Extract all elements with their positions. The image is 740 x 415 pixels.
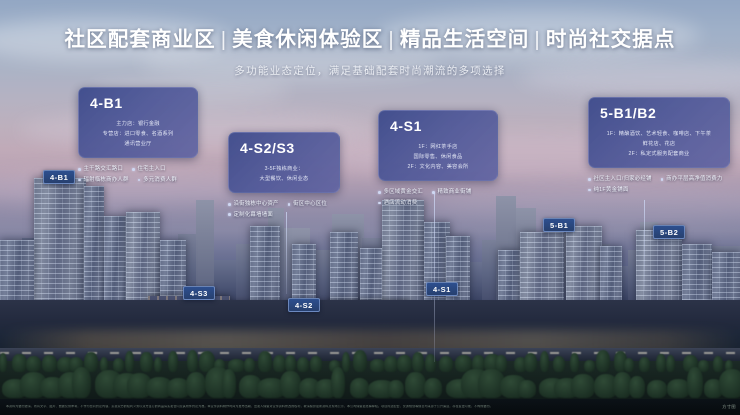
tree	[647, 380, 667, 398]
callout-bullet-item: 辐射临栋商办人群	[78, 175, 129, 185]
callout-card[interactable]: 4-B1主力店：银行金融专营店：进口零食、名酒系列通讯营业厅	[78, 87, 198, 158]
footer-bar: 本资料为要约邀请，所有文字、图片、数据仅供参考，不作为合同约定内容，买卖双方的权…	[0, 399, 740, 415]
callout-body-line: 2F：私定式服务配套商业	[600, 149, 718, 159]
callout-5-b1-b2[interactable]: 5-B1/B21F：精酿酒饮、艺术轻食、咖啡店、下午茶鲜花店、花店2F：私定式服…	[588, 97, 732, 195]
bullet-dot-icon	[228, 203, 231, 206]
callout-body-line: 专营店：进口零食、名酒系列	[90, 129, 186, 139]
tree	[687, 367, 702, 398]
callout-bullet-item: 沿街独栋中心资产	[228, 199, 279, 209]
callout-body-line: 1F：网红茶手店	[390, 142, 486, 152]
tree	[629, 376, 644, 398]
bullet-dot-icon	[78, 179, 81, 182]
callout-bullet-item: 商办平层高净值消费力	[661, 174, 723, 184]
callout-bullet-label: 住宅主入口	[138, 164, 166, 174]
building-tag-4-b1[interactable]: 4-B1	[43, 170, 75, 184]
callout-bullet-label: 酒店流动消费	[384, 198, 418, 208]
callout-body-line: 3-5F独栋商业：	[240, 164, 328, 174]
title-separator-1: |	[216, 28, 232, 51]
callout-bullets: 主干路交汇路口住宅主入口辐射临栋商办人群多元消费人群	[78, 164, 206, 185]
callout-title: 4-B1	[79, 88, 197, 116]
callout-body-line: 1F：精酿酒饮、艺术轻食、咖啡店、下午茶	[600, 129, 718, 139]
bullet-dot-icon	[132, 168, 135, 171]
callout-body-line: 通讯营业厅	[90, 139, 186, 149]
bullet-dot-icon	[288, 203, 291, 206]
callout-bullet-item: 街区中心区位	[288, 199, 327, 209]
title-part-2: 美食休闲体验区	[232, 28, 383, 51]
callout-body: 主力店：银行金融专营店：进口零食、名酒系列通讯营业厅	[79, 116, 197, 157]
callout-body: 3-5F独栋商业：大型餐饮、休闲业态	[229, 161, 339, 192]
callout-card[interactable]: 4-S2/S33-5F独栋商业：大型餐饮、休闲业态	[228, 132, 340, 193]
callout-bullet-item: 纯1F黄金铺面	[588, 185, 629, 195]
callout-bullet-label: 精致商业街铺	[438, 187, 472, 197]
callout-body-line: 鲜花店、花店	[600, 139, 718, 149]
callout-body-line: 主力店：银行金融	[90, 119, 186, 129]
callout-bullet-item: 主干路交汇路口	[78, 164, 123, 174]
callout-body-line: 2F：文化内容、美容会所	[390, 162, 486, 172]
tree	[424, 378, 442, 398]
title-separator-2: |	[383, 28, 399, 51]
callout-bullet-label: 定制化幕墙墙面	[234, 210, 274, 220]
callout-bullet-label: 多区域黄金交汇	[384, 187, 424, 197]
bullet-dot-icon	[378, 191, 381, 194]
callout-bullet-item: 定制化幕墙墙面	[228, 210, 273, 220]
callout-leader-line	[434, 192, 435, 362]
callout-bullet-label: 多元消费人群	[143, 175, 177, 185]
tree	[222, 369, 236, 398]
callout-bullet-label: 商办平层高净值消费力	[666, 174, 722, 184]
building-tag-4-s1[interactable]: 4-S1	[426, 282, 458, 296]
callout-4-b1[interactable]: 4-B1主力店：银行金融专营店：进口零食、名酒系列通讯营业厅主干路交汇路口住宅主…	[78, 87, 206, 185]
callout-body-line: 国际零售、休闲食品	[390, 152, 486, 162]
callout-bullet-item: 多区域黄金交汇	[378, 187, 423, 197]
bullet-dot-icon	[588, 178, 591, 181]
callout-bullet-item: 酒店流动消费	[378, 198, 417, 208]
callout-bullet-label: 纯1F黄金铺面	[594, 185, 629, 195]
tree-row-near	[0, 364, 740, 398]
callout-bullet-item: 精致商业街铺	[432, 187, 471, 197]
callout-body-line: 大型餐饮、休闲业态	[240, 174, 328, 184]
page-title: 社区配套商业区|美食休闲体验区|精品生活空间|时尚社交据点	[0, 22, 740, 52]
callout-bullets: 沿街独栋中心资产街区中心区位定制化幕墙墙面	[228, 199, 352, 220]
tree	[350, 378, 369, 398]
callout-card[interactable]: 5-B1/B21F：精酿酒饮、艺术轻食、咖啡店、下午茶鲜花店、花店2F：私定式服…	[588, 97, 730, 168]
building-tag-5-b2[interactable]: 5-B2	[653, 225, 685, 239]
tree	[72, 367, 91, 398]
tree	[719, 369, 740, 398]
callout-bullet-item: 多元消费人群	[138, 175, 177, 185]
callout-bullets: 社区主入口/归家必经铺商办平层高净值消费力纯1F黄金铺面	[588, 174, 732, 195]
callout-title: 4-S2/S3	[229, 133, 339, 161]
footer-mark: 方寸图	[722, 404, 740, 410]
tree	[571, 374, 594, 398]
callout-title: 4-S1	[379, 111, 497, 139]
bullet-dot-icon	[378, 202, 381, 205]
callout-bullet-label: 社区主入口/归家必经铺	[594, 174, 652, 184]
callout-bullet-label: 主干路交汇路口	[84, 164, 124, 174]
poster-canvas: 社区配套商业区|美食休闲体验区|精品生活空间|时尚社交据点 多功能业态定位，满足…	[0, 0, 740, 415]
legal-disclaimer: 本资料为要约邀请，所有文字、图片、数据仅供参考，不作为合同约定内容，买卖双方的权…	[0, 405, 722, 409]
building-tag-4-s3[interactable]: 4-S3	[183, 286, 215, 300]
poster-header: 社区配套商业区|美食休闲体验区|精品生活空间|时尚社交据点 多功能业态定位，满足…	[0, 0, 740, 78]
tree	[331, 367, 345, 398]
tree	[186, 372, 207, 398]
callout-4-s1[interactable]: 4-S11F：网红茶手店国际零售、休闲食品2F：文化内容、美容会所多区域黄金交汇…	[378, 110, 508, 208]
callout-body: 1F：精酿酒饮、艺术轻食、咖啡店、下午茶鲜花店、花店2F：私定式服务配套商业	[589, 126, 729, 167]
callout-bullet-label: 沿街独栋中心资产	[234, 199, 279, 209]
bullet-dot-icon	[138, 179, 141, 182]
building-tag-4-s2[interactable]: 4-S2	[288, 298, 320, 312]
building-tag-5-b1[interactable]: 5-B1	[543, 218, 575, 232]
callout-4-s2-s3[interactable]: 4-S2/S33-5F独栋商业：大型餐饮、休闲业态沿街独栋中心资产街区中心区位定…	[228, 132, 352, 220]
bullet-dot-icon	[78, 168, 81, 171]
callout-bullet-item: 社区主入口/归家必经铺	[588, 174, 652, 184]
title-separator-3: |	[529, 28, 545, 51]
page-subtitle: 多功能业态定位，满足基础配套时尚潮流的多项选择	[0, 63, 740, 78]
bullet-dot-icon	[661, 178, 664, 181]
callout-leader-line	[644, 200, 645, 290]
callout-bullet-item: 住宅主入口	[132, 164, 166, 174]
title-part-4: 时尚社交据点	[546, 28, 676, 51]
callout-bullet-label: 街区中心区位	[293, 199, 327, 209]
callout-bullet-label: 辐射临栋商办人群	[84, 175, 129, 185]
callout-body: 1F：网红茶手店国际零售、休闲食品2F：文化内容、美容会所	[379, 139, 497, 180]
bullet-dot-icon	[588, 189, 591, 192]
tree	[280, 371, 300, 398]
tree	[388, 380, 404, 398]
callout-leader-line	[286, 212, 287, 294]
bullet-dot-icon	[228, 213, 231, 216]
title-part-3: 精品生活空间	[400, 28, 530, 51]
callout-card[interactable]: 4-S11F：网红茶手店国际零售、休闲食品2F：文化内容、美容会所	[378, 110, 498, 181]
tree	[518, 380, 537, 398]
callout-title: 5-B1/B2	[589, 98, 729, 126]
callout-bullets: 多区域黄金交汇精致商业街铺酒店流动消费	[378, 187, 508, 208]
title-part-1: 社区配套商业区	[65, 28, 216, 51]
